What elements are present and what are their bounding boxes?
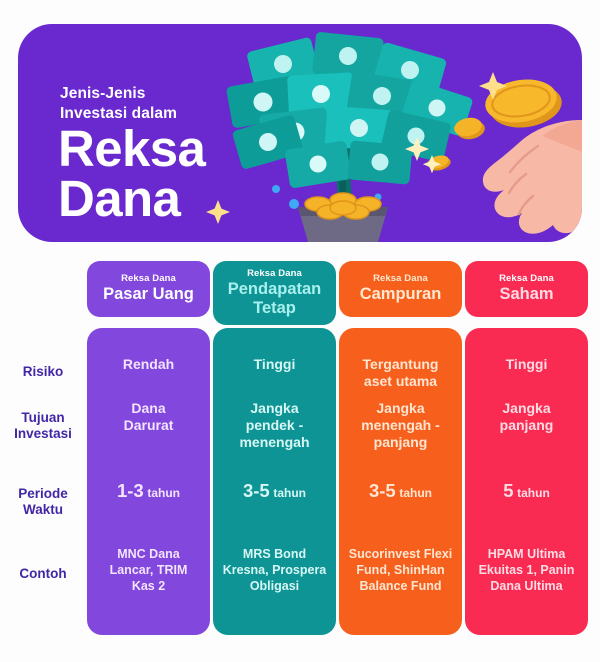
banner-title-line1: Reksa xyxy=(58,120,205,177)
column-header-campuran[interactable]: Reksa Dana Campuran xyxy=(339,261,462,317)
column-body-pendapatan-tetap: Tinggi Jangka pendek - menengah 3-5 tahu… xyxy=(213,328,336,635)
cell-risiko: Tinggi xyxy=(213,356,336,373)
cell-tujuan-line3: menengah xyxy=(239,434,309,450)
cell-contoh: Sucorinvest Flexi Fund, ShinHan Balance … xyxy=(339,546,462,594)
row-label-periode-waktu: Periode Waktu xyxy=(0,486,86,519)
column-body-campuran: Tergantung aset utama Jangka menengah - … xyxy=(339,328,462,635)
cell-contoh-line3: Balance Fund xyxy=(360,579,442,593)
cell-contoh: MRS Bond Kresna, Prospera Obligasi xyxy=(213,546,336,594)
cell-risiko-text: Tinggi xyxy=(254,356,296,372)
cell-tujuan: Dana Darurat xyxy=(87,400,210,434)
column-header-sub: Reksa Dana xyxy=(121,273,176,284)
cell-tujuan-line2: menengah - xyxy=(361,417,440,433)
infographic-page: Jenis-Jenis Investasi dalam Reksa Dana R… xyxy=(0,0,600,662)
column-header-main: Pasar Uang xyxy=(103,285,194,303)
cell-tujuan-line1: Jangka xyxy=(502,400,550,416)
cell-contoh-line2: Ekuitas 1, Panin xyxy=(479,563,575,577)
column-pasar-uang[interactable]: Reksa Dana Pasar Uang Rendah Dana Darura… xyxy=(87,252,210,644)
row-label-periode-line1: Periode xyxy=(18,486,68,501)
cell-contoh-line2: Kresna, Prospera xyxy=(223,563,327,577)
cell-periode: 3-5 tahun xyxy=(213,480,336,502)
cell-periode: 3-5 tahun xyxy=(339,480,462,502)
cell-tujuan: Jangka menengah - panjang xyxy=(339,400,462,450)
row-label-risiko-text: Risiko xyxy=(23,364,64,379)
cell-contoh: MNC Dana Lancar, TRIM Kas 2 xyxy=(87,546,210,594)
column-saham[interactable]: Reksa Dana Saham Tinggi Jangka panjang 5… xyxy=(465,252,588,644)
cell-tujuan-line3: panjang xyxy=(374,434,428,450)
row-label-contoh-text: Contoh xyxy=(19,566,66,581)
cell-contoh-line2: Lancar, TRIM xyxy=(110,563,188,577)
column-pendapatan-tetap[interactable]: Reksa Dana Pendapatan Tetap Tinggi Jangk… xyxy=(213,252,336,644)
banner-title-line2: Dana xyxy=(58,174,318,224)
cell-periode-unit: tahun xyxy=(399,486,432,500)
row-label-tujuan-line2: Investasi xyxy=(14,426,72,441)
cell-contoh-line3: Kas 2 xyxy=(132,579,165,593)
cell-risiko-text: Tinggi xyxy=(506,356,548,372)
column-body-saham: Tinggi Jangka panjang 5 tahun HPAM Ultim… xyxy=(465,328,588,635)
cell-contoh: HPAM Ultima Ekuitas 1, Panin Dana Ultima xyxy=(465,546,588,594)
cell-tujuan-line2: pendek - xyxy=(246,417,304,433)
cell-contoh-line3: Dana Ultima xyxy=(490,579,562,593)
column-header-main: Saham xyxy=(499,285,553,303)
cell-risiko-line1: Tergantung xyxy=(363,356,439,372)
banner-eyebrow-line1: Jenis-Jenis xyxy=(60,85,146,102)
hero-banner: Jenis-Jenis Investasi dalam Reksa Dana xyxy=(18,24,582,242)
cell-risiko: Rendah xyxy=(87,356,210,373)
cell-risiko-text: Rendah xyxy=(123,356,174,372)
cell-risiko: Tergantung aset utama xyxy=(339,356,462,390)
cell-risiko: Tinggi xyxy=(465,356,588,373)
cell-tujuan-line2: panjang xyxy=(500,417,554,433)
cell-periode: 1-3 tahun xyxy=(87,480,210,502)
cell-periode-value: 5 xyxy=(503,480,513,501)
cell-risiko-line2: aset utama xyxy=(364,373,437,389)
cell-contoh-line1: MRS Bond xyxy=(243,547,306,561)
row-label-periode-line2: Waktu xyxy=(23,502,63,517)
cell-tujuan: Jangka panjang xyxy=(465,400,588,434)
row-label-tujuan-investasi: Tujuan Investasi xyxy=(0,410,86,443)
column-header-sub: Reksa Dana xyxy=(373,273,428,284)
cell-contoh-line1: MNC Dana xyxy=(117,547,180,561)
row-label-contoh: Contoh xyxy=(0,566,86,582)
row-label-column: Risiko Tujuan Investasi Periode Waktu Co… xyxy=(0,252,86,644)
row-label-tujuan-line1: Tujuan xyxy=(21,410,64,425)
column-header-main: Pendapatan Tetap xyxy=(217,280,332,317)
cell-periode-value: 3-5 xyxy=(369,480,396,501)
cell-contoh-line2: Fund, ShinHan xyxy=(356,563,444,577)
column-header-pendapatan-tetap[interactable]: Reksa Dana Pendapatan Tetap xyxy=(213,261,336,325)
cell-tujuan-line1: Jangka xyxy=(250,400,298,416)
column-header-main: Campuran xyxy=(360,285,442,303)
comparison-table: Risiko Tujuan Investasi Periode Waktu Co… xyxy=(0,252,600,644)
cell-periode: 5 tahun xyxy=(465,480,588,502)
cell-tujuan-line1: Jangka xyxy=(376,400,424,416)
row-label-risiko: Risiko xyxy=(0,364,86,380)
banner-title: Reksa Dana xyxy=(58,124,318,225)
column-header-pasar-uang[interactable]: Reksa Dana Pasar Uang xyxy=(87,261,210,317)
column-header-sub: Reksa Dana xyxy=(247,268,302,279)
cell-periode-unit: tahun xyxy=(517,486,550,500)
column-header-sub: Reksa Dana xyxy=(499,273,554,284)
column-body-pasar-uang: Rendah Dana Darurat 1-3 tahun MNC Dana L… xyxy=(87,328,210,635)
cell-tujuan-line1: Dana xyxy=(131,400,165,416)
cell-tujuan: Jangka pendek - menengah xyxy=(213,400,336,450)
column-header-saham[interactable]: Reksa Dana Saham xyxy=(465,261,588,317)
cell-tujuan-line2: Darurat xyxy=(124,417,174,433)
column-campuran[interactable]: Reksa Dana Campuran Tergantung aset utam… xyxy=(339,252,462,644)
cell-periode-unit: tahun xyxy=(147,486,180,500)
cell-contoh-line1: Sucorinvest Flexi xyxy=(349,547,453,561)
cell-contoh-line3: Obligasi xyxy=(250,579,299,593)
cell-periode-value: 1-3 xyxy=(117,480,144,501)
cell-periode-value: 3-5 xyxy=(243,480,270,501)
banner-eyebrow: Jenis-Jenis Investasi dalam xyxy=(60,84,280,125)
cell-contoh-line1: HPAM Ultima xyxy=(488,547,566,561)
cell-periode-unit: tahun xyxy=(273,486,306,500)
